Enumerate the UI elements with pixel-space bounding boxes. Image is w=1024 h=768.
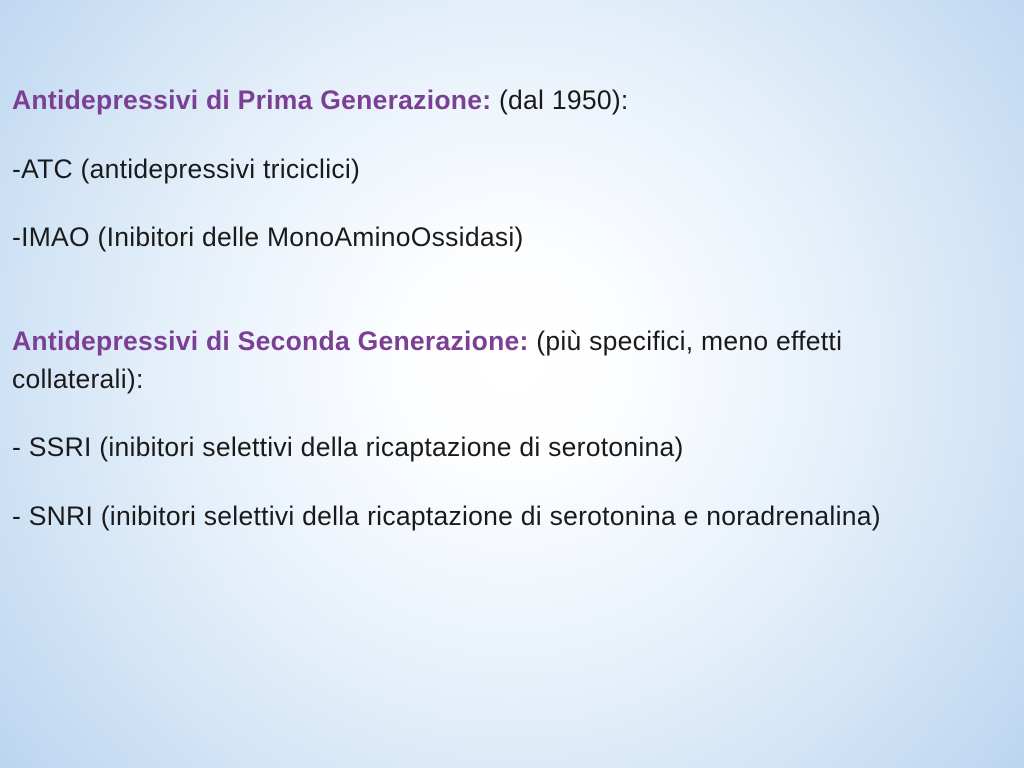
heading-seconda-generazione: Antidepressivi di Seconda Generazione: (… bbox=[12, 323, 960, 398]
list-item-ssri-text: - SSRI (inibitori selettivi della ricapt… bbox=[12, 432, 684, 462]
slide-text-body: Antidepressivi di Prima Generazione: (da… bbox=[12, 82, 960, 535]
list-item-ssri: - SSRI (inibitori selettivi della ricapt… bbox=[12, 429, 960, 467]
list-item-snri: - SNRI (inibitori selettivi della ricapt… bbox=[12, 498, 960, 536]
heading-prima-generazione-lead: Antidepressivi di Prima Generazione: bbox=[12, 85, 491, 115]
list-item-atc: -ATC (antidepressivi triciclici) bbox=[12, 151, 960, 189]
heading-seconda-generazione-lead: Antidepressivi di Seconda Generazione: bbox=[12, 326, 529, 356]
list-item-snri-text: - SNRI (inibitori selettivi della ricapt… bbox=[12, 501, 881, 531]
list-item-imao: -IMAO (Inibitori delle MonoAminoOssidasi… bbox=[12, 219, 960, 257]
slide: Antidepressivi di Prima Generazione: (da… bbox=[0, 0, 1024, 768]
heading-prima-generazione: Antidepressivi di Prima Generazione: (da… bbox=[12, 82, 960, 120]
list-item-imao-text: -IMAO (Inibitori delle MonoAminoOssidasi… bbox=[12, 222, 524, 252]
heading-prima-generazione-rest: (dal 1950): bbox=[491, 85, 628, 115]
list-item-atc-text: -ATC (antidepressivi triciclici) bbox=[12, 154, 360, 184]
